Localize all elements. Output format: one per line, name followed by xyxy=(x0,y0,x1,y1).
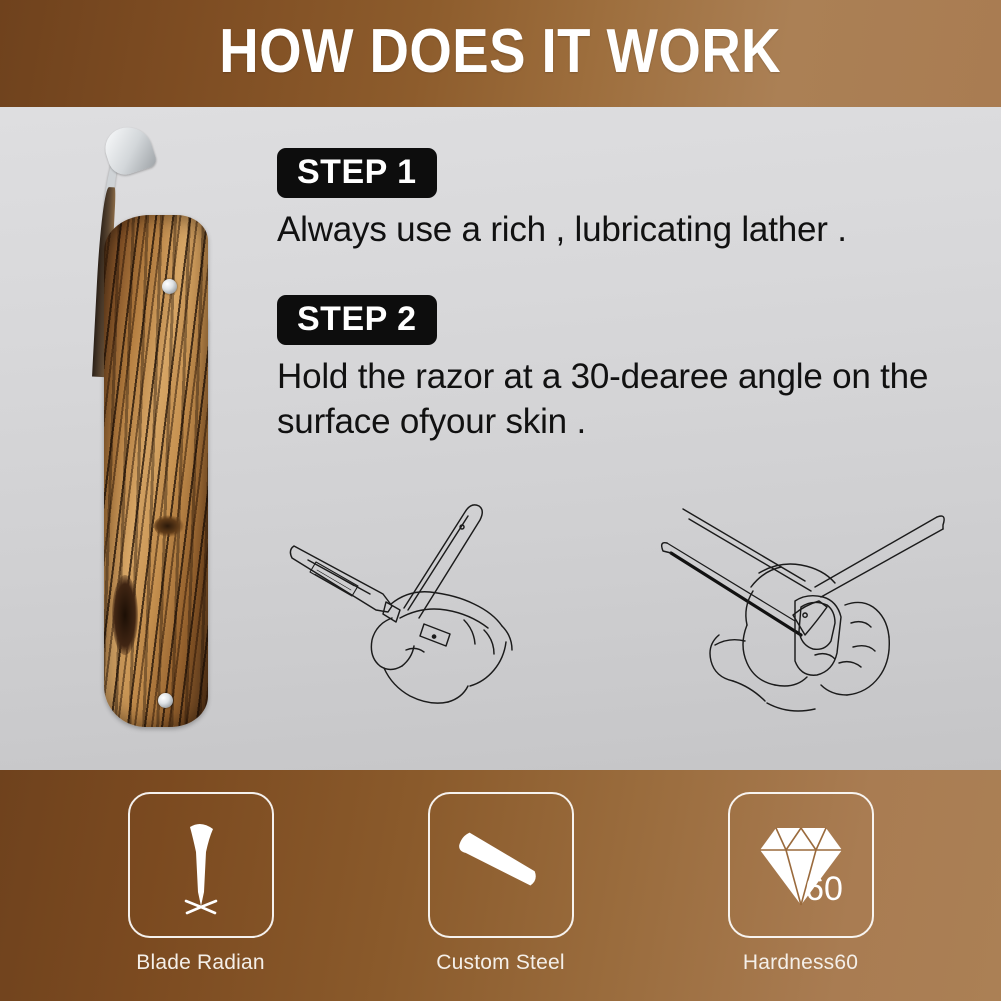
hardness-value-badge: 60 xyxy=(805,870,843,908)
feature-box-hardness: 60 xyxy=(728,792,874,938)
steps-list: STEP 1 Always use a rich , lubricating l… xyxy=(277,148,983,444)
feature-label-hardness: Hardness60 xyxy=(743,951,858,975)
page-title: HOW DOES IT WORK xyxy=(220,21,782,87)
diamond-hardness-icon: 60 xyxy=(742,806,860,924)
blade-radian-icon xyxy=(146,810,256,920)
step-badge-1: STEP 1 xyxy=(277,148,437,198)
feature-box-custom-steel xyxy=(428,792,574,938)
feature-hardness: 60 Hardness60 xyxy=(721,792,881,975)
header-banner: HOW DOES IT WORK xyxy=(0,0,1001,107)
razor-pivot-rivet-bottom xyxy=(158,693,173,708)
step-text-1: Always use a rich , lubricating lather . xyxy=(277,208,983,253)
custom-steel-icon xyxy=(443,807,559,923)
razor-pivot-rivet-top xyxy=(162,279,177,294)
hand-holding-open-razor-illustration xyxy=(288,500,618,720)
hand-grip-closeup-illustration xyxy=(655,495,975,720)
feature-custom-steel: Custom Steel xyxy=(421,792,581,975)
step-badge-2: STEP 2 xyxy=(277,295,437,345)
features-band: Blade Radian Custom Steel xyxy=(0,770,1001,1001)
razor-wood-handle xyxy=(104,215,208,727)
wood-knot-secondary xyxy=(112,575,138,655)
feature-box-blade-radian xyxy=(128,792,274,938)
step-item-1: STEP 1 Always use a rich , lubricating l… xyxy=(277,148,983,253)
feature-blade-radian: Blade Radian xyxy=(121,792,281,975)
main-panel: STEP 1 Always use a rich , lubricating l… xyxy=(0,107,1001,770)
feature-label-custom-steel: Custom Steel xyxy=(436,951,564,975)
step-text-2: Hold the razor at a 30-dearee angle on t… xyxy=(277,355,983,445)
feature-label-blade-radian: Blade Radian xyxy=(136,951,265,975)
wood-knot xyxy=(154,515,184,537)
step-item-2: STEP 2 Hold the razor at a 30-dearee ang… xyxy=(277,295,983,445)
product-photo-razor xyxy=(78,127,268,727)
features-list: Blade Radian Custom Steel xyxy=(0,770,1001,1001)
